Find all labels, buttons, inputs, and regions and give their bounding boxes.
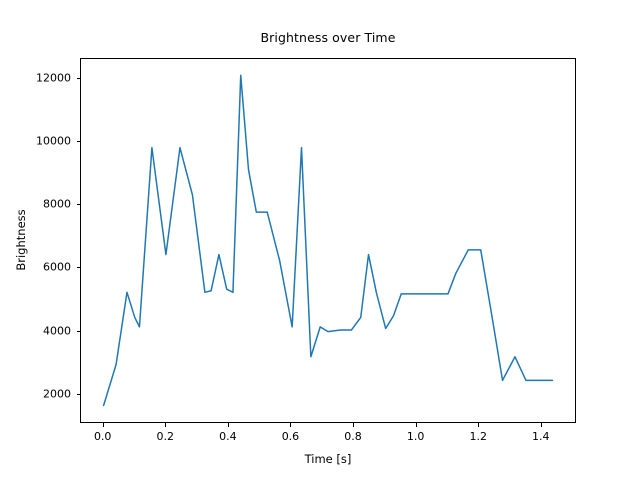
y-tick-label: 4000 (0, 324, 71, 337)
y-tick-mark (77, 331, 81, 332)
brightness-series-line (104, 75, 553, 405)
x-tick-mark (353, 423, 354, 427)
x-tick-label: 0.0 (94, 430, 112, 443)
x-tick-mark (541, 423, 542, 427)
x-tick-mark (165, 423, 166, 427)
x-tick-mark (228, 423, 229, 427)
x-tick-label: 0.2 (157, 430, 175, 443)
x-tick-mark (478, 423, 479, 427)
plot-area (80, 58, 576, 423)
y-tick-mark (77, 78, 81, 79)
line-chart-svg (81, 59, 575, 422)
y-tick-mark (77, 267, 81, 268)
y-tick-mark (77, 394, 81, 395)
x-tick-label: 0.6 (282, 430, 300, 443)
x-tick-label: 1.4 (532, 430, 550, 443)
y-tick-mark (77, 141, 81, 142)
x-tick-label: 0.8 (344, 430, 362, 443)
x-tick-mark (416, 423, 417, 427)
x-tick-label: 1.2 (469, 430, 487, 443)
y-tick-label: 12000 (0, 71, 71, 84)
x-tick-label: 1.0 (407, 430, 425, 443)
y-tick-label: 2000 (0, 387, 71, 400)
x-axis-label: Time [s] (80, 452, 576, 466)
x-tick-mark (290, 423, 291, 427)
y-tick-label: 8000 (0, 198, 71, 211)
y-tick-label: 6000 (0, 261, 71, 274)
chart-title: Brightness over Time (80, 30, 576, 45)
y-tick-mark (77, 204, 81, 205)
y-tick-label: 10000 (0, 134, 71, 147)
figure-canvas: Brightness over Time Brightness Time [s]… (0, 0, 640, 480)
x-tick-label: 0.4 (219, 430, 237, 443)
x-tick-mark (103, 423, 104, 427)
